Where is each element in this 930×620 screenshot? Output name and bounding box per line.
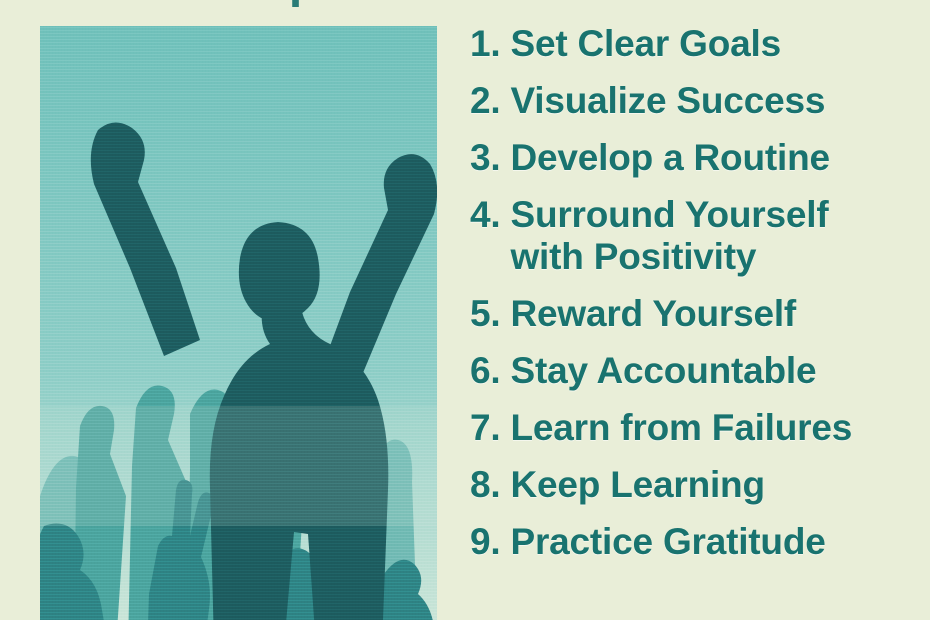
crowd-silhouette-graphic — [40, 26, 437, 620]
list-item: 5. Reward Yourself — [470, 294, 920, 334]
list-item: 6. Stay Accountable — [470, 351, 920, 391]
page-title: Tips for Motivation — [0, 0, 930, 9]
list-item-label: Practice Gratitude — [510, 522, 920, 562]
list-item-label-line1: Surround Yourself — [510, 194, 828, 235]
list-item-label: Learn from Failures — [510, 408, 920, 448]
list-item-number: 4. — [470, 195, 500, 235]
list-item-label: Develop a Routine — [510, 138, 920, 178]
list-item-number: 7. — [470, 408, 500, 448]
list-item-number: 3. — [470, 138, 500, 178]
list-item-label: Surround Yourself with Positivity — [510, 195, 920, 277]
poster-canvas: Tips for Motivation — [0, 0, 930, 620]
list-item-label-line2: with Positivity — [510, 237, 920, 277]
list-item-number: 9. — [470, 522, 500, 562]
list-item-number: 5. — [470, 294, 500, 334]
list-item: 3. Develop a Routine — [470, 138, 920, 178]
list-item-label: Reward Yourself — [510, 294, 920, 334]
list-item-number: 2. — [470, 81, 500, 121]
list-item: 1. Set Clear Goals — [470, 24, 920, 64]
list-item-label: Visualize Success — [510, 81, 920, 121]
list-item: 2. Visualize Success — [470, 81, 920, 121]
list-item: 7. Learn from Failures — [470, 408, 920, 448]
list-item-label: Stay Accountable — [510, 351, 920, 391]
list-item-label: Set Clear Goals — [510, 24, 920, 64]
list-item: 9. Practice Gratitude — [470, 522, 920, 562]
list-item-label: Keep Learning — [510, 465, 920, 505]
list-item-number: 6. — [470, 351, 500, 391]
list-item: 4. Surround Yourself with Positivity — [470, 195, 920, 277]
tips-list: 1. Set Clear Goals 2. Visualize Success … — [470, 24, 920, 579]
illustration-panel — [40, 26, 437, 620]
list-item: 8. Keep Learning — [470, 465, 920, 505]
list-item-number: 8. — [470, 465, 500, 505]
list-item-number: 1. — [470, 24, 500, 64]
